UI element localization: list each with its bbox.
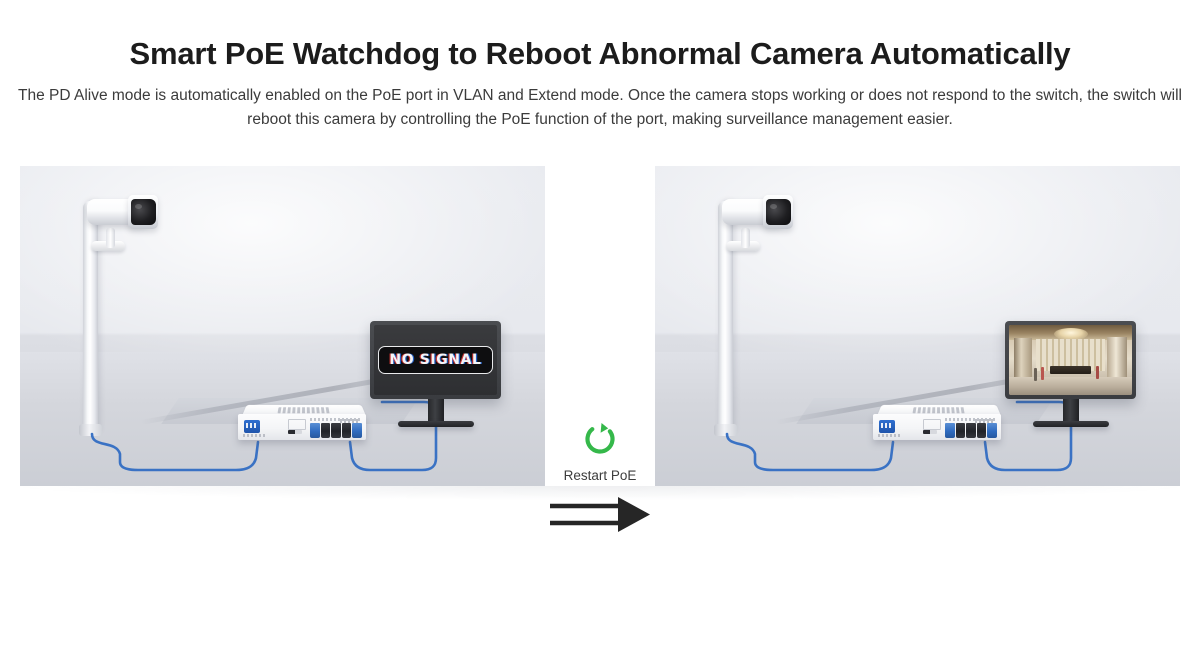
restart-poe-label: Restart PoE [564,468,637,483]
port-strip-label [310,418,362,421]
switch-mode-toggle[interactable] [288,430,302,434]
port-3[interactable] [966,423,976,438]
monitor-screen [1009,325,1132,395]
switch-front-panel [873,414,1001,440]
after-panel [655,166,1180,486]
port-2[interactable] [956,423,966,438]
comparison-shadow [20,486,1180,500]
port-1[interactable] [310,423,320,438]
port-5[interactable] [352,423,362,438]
switch-label-left [243,434,265,437]
monitor-live-video [1005,321,1136,427]
header: Smart PoE Watchdog to Reboot Abnormal Ca… [0,0,1200,132]
switch-label-left [878,434,900,437]
lobby-person [1096,366,1099,379]
port-3[interactable] [331,423,341,438]
switch-badge-icon [244,420,260,433]
lobby-camera-feed [1009,325,1132,395]
camera-lens-icon [766,199,791,225]
lobby-reception-desk [1050,366,1092,374]
monitor-foot [1033,421,1109,427]
switch-led-indicators [288,419,306,430]
lobby-column-right [1107,337,1127,378]
lobby-person [1034,368,1037,381]
lobby-column-left [1014,338,1032,377]
camera-pole-base [79,424,102,436]
poe-switch [873,403,1001,441]
comparison-area: NO SIGNAL Restart PoE [0,166,1200,486]
before-panel: NO SIGNAL [20,166,545,486]
camera-pole [83,201,98,431]
no-signal-text: NO SIGNAL [389,352,481,368]
lobby-floor [1009,377,1132,395]
camera-arm [106,228,115,248]
camera-pole [718,201,733,431]
camera-pole-base [714,424,737,436]
port-4[interactable] [342,423,352,438]
switch-badge-icon [879,420,895,433]
switch-brand-logo [912,407,965,413]
switch-ports [310,423,362,438]
restart-poe-icon [581,420,619,458]
switch-led-indicators [923,419,941,430]
lobby-person [1041,367,1044,380]
poe-switch [238,403,366,441]
switch-front-panel [238,414,366,440]
port-2[interactable] [321,423,331,438]
switch-brand-logo [277,407,330,413]
monitor-bezel: NO SIGNAL [370,321,501,399]
monitor-screen: NO SIGNAL [374,325,497,395]
camera-arm [741,228,750,248]
monitor-neck [428,399,444,421]
monitor-foot [398,421,474,427]
port-5[interactable] [987,423,997,438]
port-strip-label [945,418,997,421]
no-signal-box: NO SIGNAL [378,346,492,374]
monitor-neck [1063,399,1079,421]
monitor-no-signal: NO SIGNAL [370,321,501,427]
port-1[interactable] [945,423,955,438]
transition-arrow-icon [548,495,652,535]
chandelier-icon [1054,328,1088,340]
page-subtitle: The PD Alive mode is automatically enabl… [12,84,1188,132]
camera-lens-icon [131,199,156,225]
port-4[interactable] [977,423,987,438]
switch-ports [945,423,997,438]
switch-mode-toggle[interactable] [923,430,937,434]
page-title: Smart PoE Watchdog to Reboot Abnormal Ca… [0,34,1200,74]
monitor-bezel [1005,321,1136,399]
